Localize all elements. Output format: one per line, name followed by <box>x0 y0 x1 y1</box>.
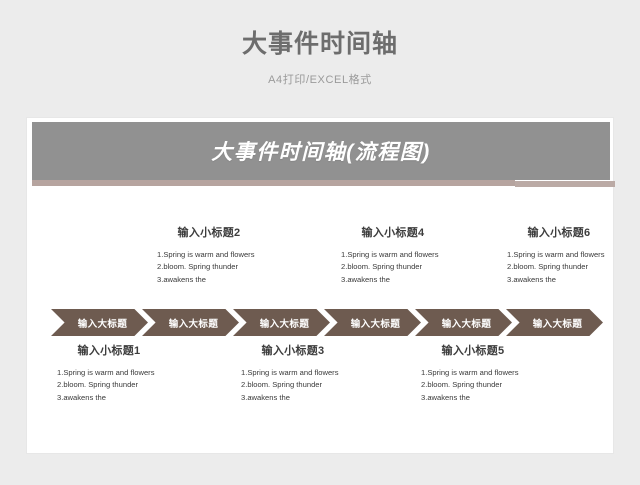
block-body: 1.Spring is warm and flowers 2.bloom. Sp… <box>241 367 345 404</box>
chevron-strip: 输入大标题 输入大标题 输入大标题 输入大标题 输入大标题 输入大标题 <box>51 309 591 337</box>
chevron-step-2[interactable]: 输入大标题 <box>142 309 239 336</box>
chevron-step-5[interactable]: 输入大标题 <box>415 309 512 336</box>
chevron-label: 输入大标题 <box>527 316 583 330</box>
timeline-block-top-3: 输入小标题6 1.Spring is warm and flowers 2.bl… <box>483 227 635 286</box>
timeline-top-row: 输入小标题2 1.Spring is warm and flowers 2.bl… <box>27 227 613 307</box>
page-header: 大事件时间轴 A4打印/EXCEL格式 <box>0 0 640 87</box>
banner-underline-left <box>32 180 515 186</box>
chevron-step-4[interactable]: 输入大标题 <box>324 309 421 336</box>
chevron-label: 输入大标题 <box>345 316 401 330</box>
chevron-label: 输入大标题 <box>72 316 128 330</box>
block-title: 输入小标题5 <box>397 345 549 358</box>
chevron-label: 输入大标题 <box>436 316 492 330</box>
block-title: 输入小标题1 <box>33 345 185 358</box>
block-body: 1.Spring is warm and flowers 2.bloom. Sp… <box>157 249 261 286</box>
timeline-area: 输入小标题2 1.Spring is warm and flowers 2.bl… <box>27 187 613 453</box>
block-body: 1.Spring is warm and flowers 2.bloom. Sp… <box>421 367 525 404</box>
timeline-card: 大事件时间轴(流程图) 输入小标题2 1.Spring is warm and … <box>27 118 613 453</box>
chevron-step-6[interactable]: 输入大标题 <box>506 309 603 336</box>
chevron-step-3[interactable]: 输入大标题 <box>233 309 330 336</box>
timeline-block-top-1: 输入小标题2 1.Spring is warm and flowers 2.bl… <box>133 227 285 286</box>
block-title: 输入小标题2 <box>133 227 285 240</box>
banner-bar: 大事件时间轴(流程图) <box>32 122 610 180</box>
timeline-block-bottom-3: 输入小标题5 1.Spring is warm and flowers 2.bl… <box>397 345 549 404</box>
page-title: 大事件时间轴 <box>0 0 640 59</box>
timeline-block-bottom-2: 输入小标题3 1.Spring is warm and flowers 2.bl… <box>217 345 369 404</box>
chevron-label: 输入大标题 <box>254 316 310 330</box>
block-title: 输入小标题4 <box>317 227 469 240</box>
block-title: 输入小标题3 <box>217 345 369 358</box>
chevron-label: 输入大标题 <box>163 316 219 330</box>
page-subtitle: A4打印/EXCEL格式 <box>0 59 640 87</box>
banner: 大事件时间轴(流程图) <box>32 122 610 187</box>
chevron-step-1[interactable]: 输入大标题 <box>51 309 148 336</box>
banner-title: 大事件时间轴(流程图) <box>211 136 431 166</box>
timeline-block-top-2: 输入小标题4 1.Spring is warm and flowers 2.bl… <box>317 227 469 286</box>
block-body: 1.Spring is warm and flowers 2.bloom. Sp… <box>57 367 161 404</box>
block-body: 1.Spring is warm and flowers 2.bloom. Sp… <box>507 249 611 286</box>
timeline-bottom-row: 输入小标题1 1.Spring is warm and flowers 2.bl… <box>27 345 613 425</box>
block-title: 输入小标题6 <box>483 227 635 240</box>
timeline-block-bottom-1: 输入小标题1 1.Spring is warm and flowers 2.bl… <box>33 345 185 404</box>
block-body: 1.Spring is warm and flowers 2.bloom. Sp… <box>341 249 445 286</box>
